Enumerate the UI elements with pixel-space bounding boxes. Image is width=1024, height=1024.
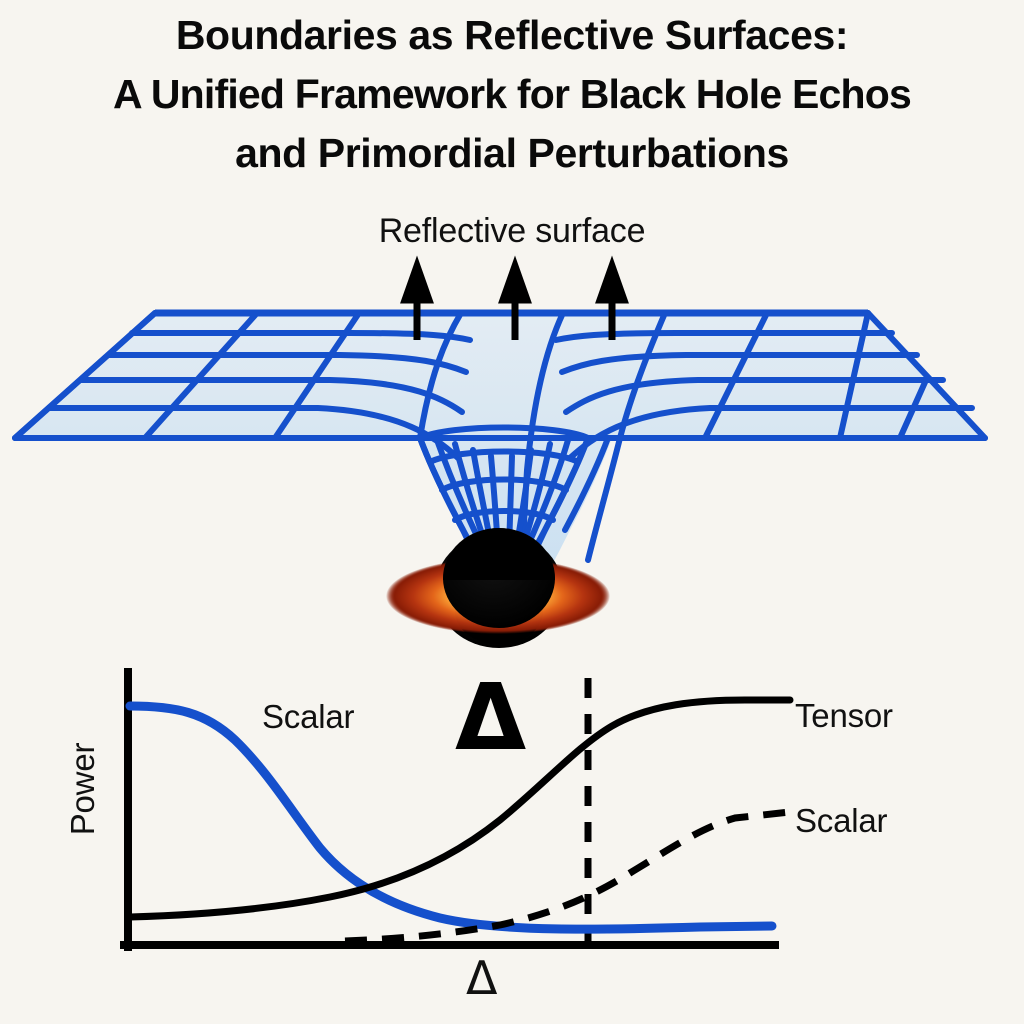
series-scalar-dashed	[345, 812, 790, 941]
chart-axes	[124, 672, 775, 947]
chart-legend-label-tensor: Tensor	[795, 697, 893, 735]
chart-legend-label-scalar: Scalar	[795, 802, 887, 840]
chart-inline-label-scalar: Scalar	[262, 698, 354, 736]
figure-canvas: Boundaries as Reflective Surfaces: A Uni…	[0, 0, 1024, 1024]
chart-x-axis-label: Δ	[466, 955, 497, 1001]
series-scalar-blue	[130, 706, 772, 929]
chart-y-axis-label: Power	[64, 694, 102, 884]
threshold-delta-symbol: Δ	[455, 672, 526, 764]
power-spectrum-chart	[0, 0, 1024, 1024]
